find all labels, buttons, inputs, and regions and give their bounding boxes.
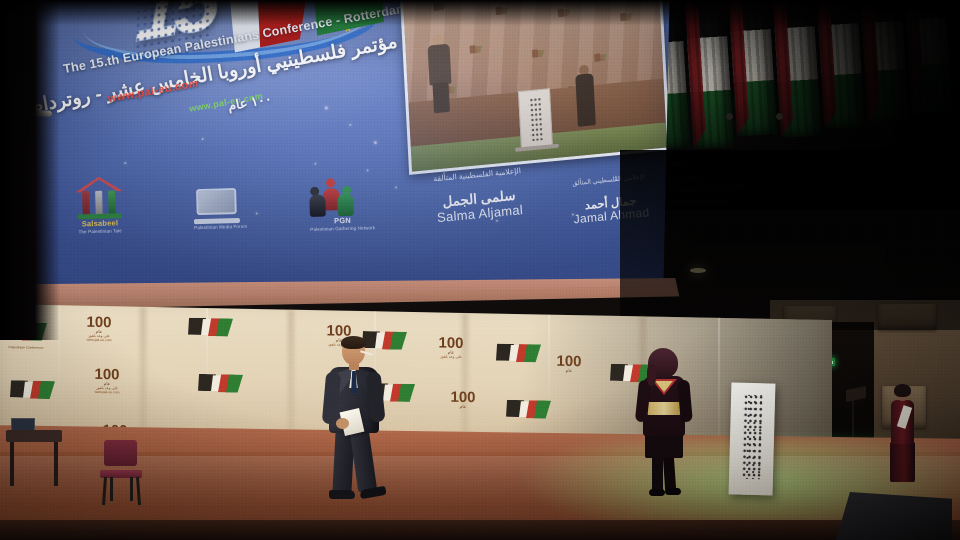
banner-wheel <box>726 113 733 120</box>
backdrop-logo-flag <box>10 380 56 407</box>
flag-logo-caption: Palestinian Conference <box>2 345 50 350</box>
banner-wheel <box>776 113 783 120</box>
female-presenter <box>637 352 693 502</box>
male-presenter <box>316 338 390 506</box>
logo-100-number: 100 <box>444 391 482 405</box>
logo-100-url: www.pal-eu.com <box>80 338 118 343</box>
screen-shading <box>14 0 674 324</box>
logo-100-number: 100 <box>550 355 588 369</box>
top-dark-masking <box>0 0 960 26</box>
logo-100-number: 100 <box>80 316 118 330</box>
backdrop-logo-100: 100 عام على وعد بلفور www.pal-eu.com <box>80 316 118 347</box>
stage-front-edge <box>0 520 960 540</box>
backdrop-logo-flag <box>506 400 552 427</box>
logo-100-number: 100 <box>88 368 126 382</box>
floor-monitor-speaker <box>836 492 952 540</box>
logo-100-sub: على وعد بلفور <box>432 354 470 359</box>
side-table <box>6 430 66 502</box>
dark-hall-mask <box>620 150 960 330</box>
backdrop-logo-flag <box>198 374 244 401</box>
backdrop-logo-100: 100 عام على وعد بلفور <box>432 336 470 367</box>
projection-screen: 15 The 15.th European Palestinians Confe… <box>14 0 674 324</box>
backdrop-logo-100: 100 عام <box>444 391 482 422</box>
roll-up-banner <box>729 382 776 495</box>
logo-100-number: 100 <box>432 336 470 350</box>
backdrop-logo-flag <box>188 318 234 345</box>
red-chair <box>96 440 144 506</box>
photograph-scene: 15 The 15.th European Palestinians Confe… <box>0 0 960 540</box>
left-dark-masking <box>0 0 60 340</box>
logo-100-url: www.pal-eu.com <box>88 390 126 395</box>
standing-attendant <box>888 386 916 486</box>
backdrop-logo-100: 100 عام على وعد بلفور www.pal-eu.com <box>88 368 126 399</box>
banner-calligraphy <box>742 395 764 479</box>
backdrop-logo-100: 100 عام <box>550 355 588 386</box>
backdrop-logo-flag <box>496 344 542 371</box>
